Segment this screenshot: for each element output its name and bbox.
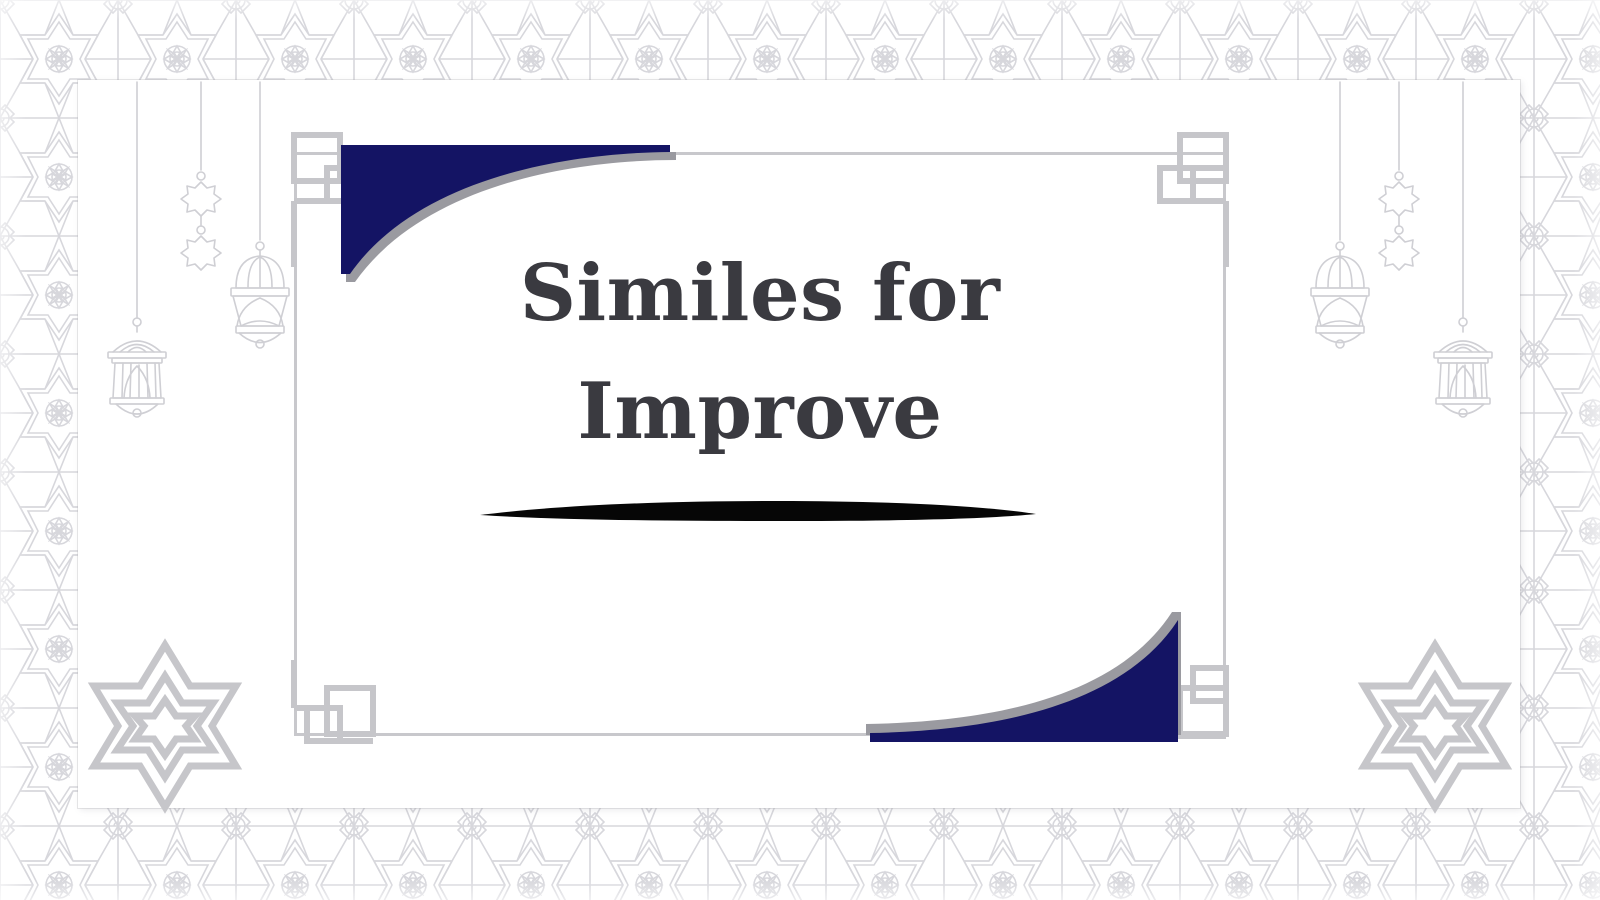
page-title: Similes for Improve — [330, 235, 1190, 471]
lens-divider — [478, 495, 1038, 525]
lens-divider-svg — [478, 495, 1038, 525]
title-slide: Similes for Improve — [0, 0, 1600, 900]
title-line-1: Similes for — [330, 235, 1190, 353]
lens-divider-shape — [480, 501, 1036, 521]
title-line-2: Improve — [330, 353, 1190, 471]
